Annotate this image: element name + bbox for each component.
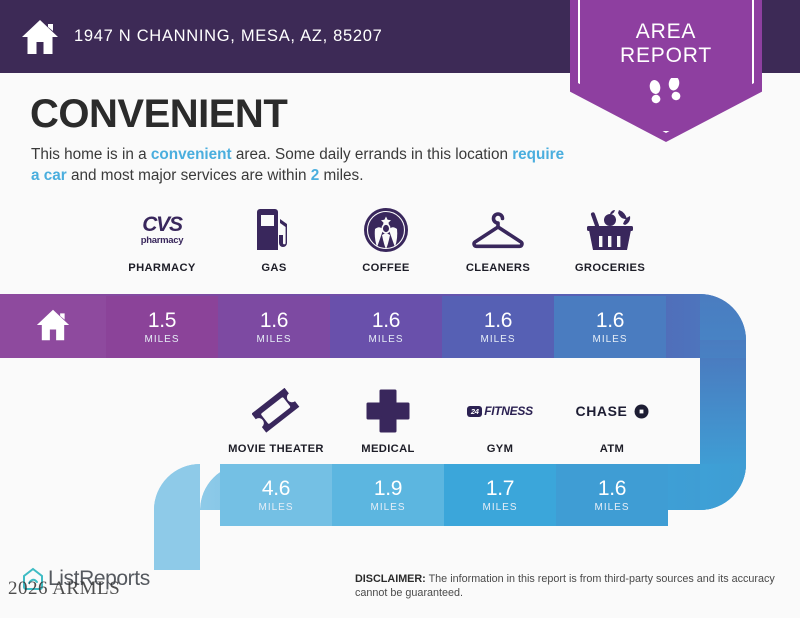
distance-unit: MILES <box>480 334 515 345</box>
distance-unit: MILES <box>482 502 517 513</box>
area-report-badge: AREA REPORT <box>570 0 762 142</box>
property-address: 1947 N CHANNING, MESA, AZ, 85207 <box>74 27 383 46</box>
summary-part3: and most major services are within <box>67 167 311 184</box>
badge-title-line1: AREA <box>570 20 762 44</box>
summary-part1: This home is in a <box>31 146 151 163</box>
home-icon <box>35 308 71 347</box>
category-atm[interactable]: CHASE ATM <box>556 388 668 455</box>
category-label: GYM <box>487 443 514 455</box>
badge-title-line2: REPORT <box>570 44 762 68</box>
category-groceries[interactable]: GROCERIES <box>554 207 666 274</box>
distance-value: 1.5 <box>148 310 176 332</box>
home-icon <box>18 15 62 59</box>
distance-value: 1.6 <box>596 310 624 332</box>
distance-cell-medical: 1.9 MILES <box>332 464 444 526</box>
distance-unit: MILES <box>592 334 627 345</box>
footprints-icon <box>570 78 762 117</box>
row2-icons: MOVIE THEATER MEDICAL 24 FITNESS GYM <box>220 388 668 455</box>
starbucks-logo <box>363 207 409 253</box>
distance-value: 1.6 <box>484 310 512 332</box>
chase-logo: CHASE <box>575 388 648 434</box>
category-gas[interactable]: GAS <box>218 207 330 274</box>
fitness-badge-number: 24 <box>467 406 482 417</box>
summary-highlight-miles: 2 <box>311 167 320 184</box>
distance-unit: MILES <box>258 502 293 513</box>
distance-unit: MILES <box>368 334 403 345</box>
category-label: COFFEE <box>362 262 409 274</box>
distance-unit: MILES <box>144 334 179 345</box>
distance-value: 1.6 <box>260 310 288 332</box>
category-label: MEDICAL <box>361 443 414 455</box>
watermark: 2026 ARMLS <box>8 578 120 600</box>
distance-cell-groceries: 1.6 MILES <box>554 296 666 358</box>
distance-unit: MILES <box>594 502 629 513</box>
summary-part4: miles. <box>319 167 363 184</box>
distance-value: 4.6 <box>262 478 290 500</box>
category-label: PHARMACY <box>128 262 195 274</box>
distance-cell-pharmacy: 1.5 MILES <box>106 296 218 358</box>
distance-cell-gas: 1.6 MILES <box>218 296 330 358</box>
distance-cell-atm: 1.6 MILES <box>556 464 668 526</box>
category-cleaners[interactable]: CLEANERS <box>442 207 554 274</box>
disclaimer-label: DISCLAIMER: <box>355 573 426 585</box>
page-title: CONVENIENT <box>30 92 287 137</box>
category-label: ATM <box>600 443 624 455</box>
distance-cell-gym: 1.7 MILES <box>444 464 556 526</box>
hanger-icon <box>470 207 526 253</box>
area-report-page: 1947 N CHANNING, MESA, AZ, 85207 AREA RE… <box>0 0 800 618</box>
summary-highlight-convenient: convenient <box>151 146 232 163</box>
distance-value: 1.7 <box>486 478 514 500</box>
distance-value: 1.6 <box>372 310 400 332</box>
distance-unit: MILES <box>256 334 291 345</box>
cvs-pharmacy-logo: CVS pharmacy <box>141 207 183 253</box>
row2-values: 4.6 MILES 1.9 MILES 1.7 MILES 1.6 MILES <box>220 464 668 526</box>
distance-cell-movie-theater: 4.6 MILES <box>220 464 332 526</box>
fitness-wordmark: FITNESS <box>484 404 533 418</box>
category-gym[interactable]: 24 FITNESS GYM <box>444 388 556 455</box>
row1-icons: CVS pharmacy PHARMACY GAS <box>106 207 666 274</box>
category-label: CLEANERS <box>466 262 530 274</box>
distance-cell-cleaners: 1.6 MILES <box>442 296 554 358</box>
distance-value: 1.6 <box>598 478 626 500</box>
movie-ticket-icon <box>252 388 300 434</box>
category-medical[interactable]: MEDICAL <box>332 388 444 455</box>
badge-title: AREA REPORT <box>570 20 762 68</box>
chase-octagon-icon <box>634 404 649 419</box>
24-fitness-logo: 24 FITNESS <box>467 388 533 434</box>
medical-cross-icon <box>366 388 410 434</box>
category-coffee[interactable]: COFFEE <box>330 207 442 274</box>
summary-text: This home is in a convenient area. Some … <box>31 144 571 186</box>
grocery-basket-icon <box>585 207 635 253</box>
category-label: GAS <box>261 262 286 274</box>
row1-values: 1.5 MILES 1.6 MILES 1.6 MILES 1.6 MILES … <box>0 296 666 358</box>
distance-value: 1.9 <box>374 478 402 500</box>
category-pharmacy[interactable]: CVS pharmacy PHARMACY <box>106 207 218 274</box>
category-label: MOVIE THEATER <box>228 443 324 455</box>
category-label: GROCERIES <box>575 262 645 274</box>
chase-wordmark: CHASE <box>575 403 627 419</box>
category-movie-theater[interactable]: MOVIE THEATER <box>220 388 332 455</box>
gas-pump-icon <box>254 207 294 253</box>
origin-home-cell <box>0 296 106 358</box>
distance-unit: MILES <box>370 502 405 513</box>
summary-part2: area. Some daily errands in this locatio… <box>232 146 513 163</box>
disclaimer: DISCLAIMER: The information in this repo… <box>355 572 775 600</box>
distance-cell-coffee: 1.6 MILES <box>330 296 442 358</box>
